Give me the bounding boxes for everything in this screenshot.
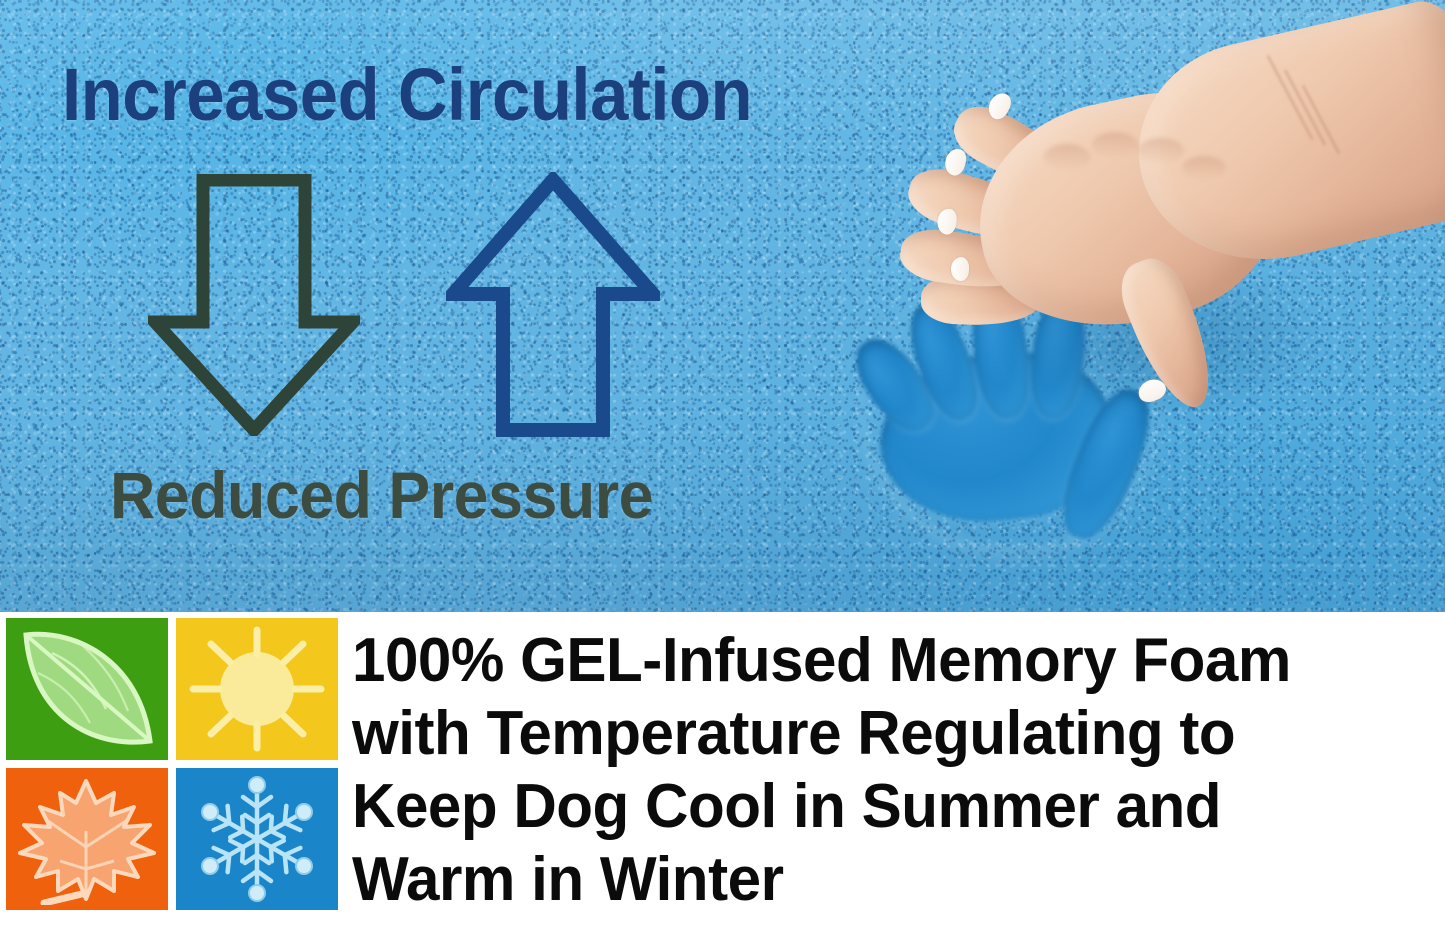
sun-glyph: [187, 624, 327, 754]
maple-leaf-glyph: [14, 773, 160, 905]
feature-headline: 100% GEL-Infused Memory Foam with Temper…: [352, 624, 1442, 916]
human-hand: [838, 60, 1445, 450]
season-icon-grid: [6, 618, 338, 920]
feature-caption-band: 100% GEL-Infused Memory Foam with Temper…: [0, 612, 1445, 927]
memory-foam-photo-panel: Increased Circulation Reduced Pressure: [0, 0, 1445, 612]
product-feature-graphic: Increased Circulation Reduced Pressure: [0, 0, 1445, 927]
headline-line: 100% GEL-Infused Memory Foam: [352, 624, 1409, 697]
knuckle: [1044, 144, 1090, 170]
headline-line: Keep Dog Cool in Summer and: [352, 770, 1409, 843]
increased-circulation-label: Increased Circulation: [62, 58, 752, 132]
autumn-leaf-icon: [6, 768, 168, 910]
reduced-pressure-label: Reduced Pressure: [110, 462, 653, 528]
knuckle: [1092, 132, 1138, 158]
headline-line: Warm in Winter: [352, 843, 1409, 916]
spring-leaf-icon: [6, 618, 168, 760]
winter-snowflake-icon: [176, 768, 338, 910]
down-arrow-icon: [148, 174, 360, 436]
knuckle: [1138, 138, 1184, 164]
snowflake-glyph: [188, 773, 326, 905]
fingernail: [951, 257, 970, 282]
knuckle: [1182, 156, 1226, 180]
up-arrow-icon: [446, 172, 660, 438]
leaf-glyph: [12, 623, 162, 755]
headline-line: with Temperature Regulating to: [352, 697, 1409, 770]
summer-sun-icon: [176, 618, 338, 760]
